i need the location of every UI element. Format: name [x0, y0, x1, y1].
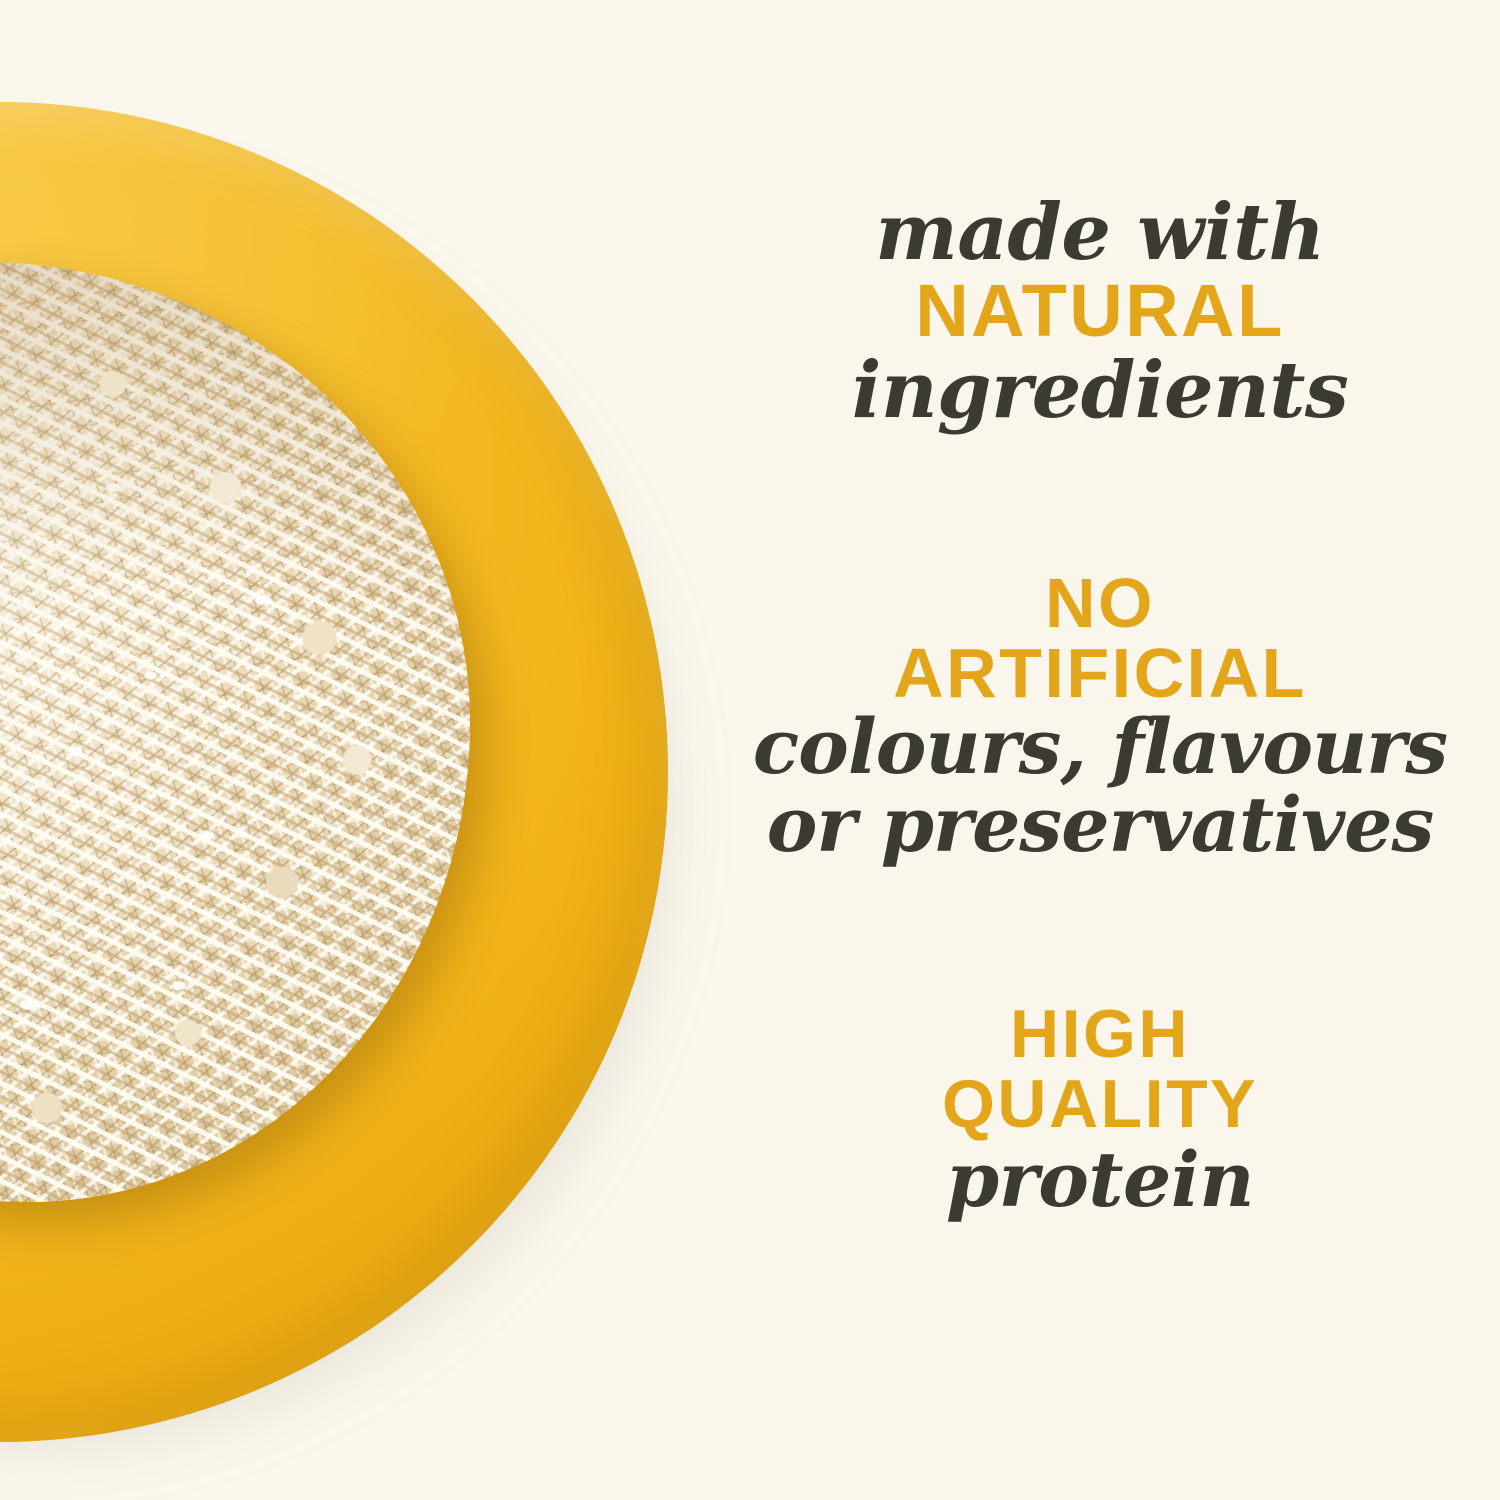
shredded-chicken-with-rice — [0, 262, 470, 1202]
claim-2-line-3: colours, flavours — [700, 709, 1500, 785]
claim-3-line-1: HIGH — [700, 1000, 1500, 1068]
claims-column: made with NATURAL ingredients NO ARTIFIC… — [700, 0, 1500, 1500]
claim-no-artificial: NO ARTIFICIAL colours, flavours or prese… — [700, 568, 1500, 864]
claim-2-line-1: NO — [700, 568, 1500, 638]
claim-2-line-2: ARTIFICIAL — [700, 638, 1500, 709]
claim-3-line-3: protein — [700, 1140, 1500, 1219]
claim-2-line-4: or preservatives — [700, 785, 1500, 864]
claim-1-line-1: made with — [700, 196, 1500, 271]
claim-1-line-2: NATURAL — [700, 271, 1500, 351]
claim-natural-ingredients: made with NATURAL ingredients — [700, 196, 1500, 430]
claim-3-line-2: QUALITY — [700, 1068, 1500, 1140]
product-feature-banner: made with NATURAL ingredients NO ARTIFIC… — [0, 0, 1500, 1500]
product-photo — [0, 0, 760, 1500]
claim-1-line-3: ingredients — [700, 351, 1500, 431]
claim-high-quality-protein: HIGH QUALITY protein — [700, 1000, 1500, 1219]
